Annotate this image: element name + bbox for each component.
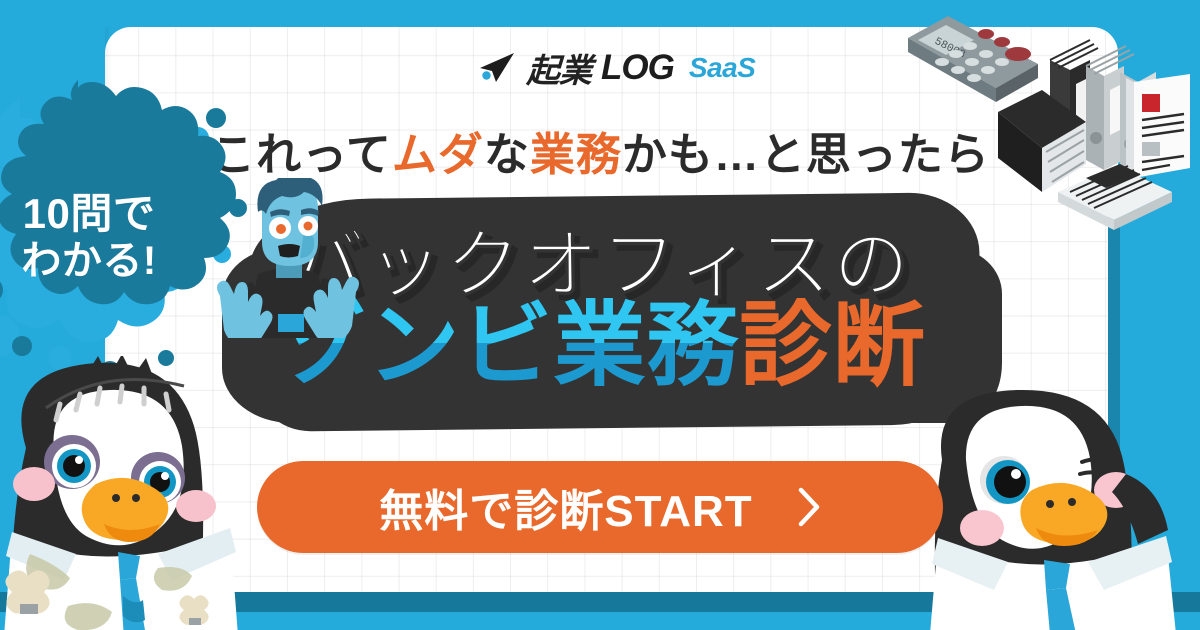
cta-label: 無料で診断START (379, 475, 752, 539)
paper-plane-icon (478, 52, 518, 84)
logo-kigyo: 起業 (526, 44, 594, 92)
bone-icon (5, 570, 49, 614)
headline-highlight-gyomu: 業務 (530, 129, 622, 180)
document-page-icon (1126, 74, 1190, 178)
chevron-right-icon (797, 487, 821, 527)
brand-logo[interactable]: 起業 LOG SaaS (478, 44, 755, 92)
headline-highlight-muda: ムダ (392, 129, 484, 180)
start-diagnosis-button[interactable]: 無料で診断START (257, 461, 943, 553)
zombie-man-icon (206, 178, 376, 338)
headline-part2: な (484, 129, 530, 180)
zombie-penguin (0, 356, 298, 630)
logo-saas: SaaS (689, 52, 756, 84)
poster-canvas: 起業 LOG SaaS これってムダな業務かも…と思ったら バックオフィスの ゾ… (0, 0, 1200, 630)
office-objects: 58008 (890, 6, 1200, 238)
calculator-icon: 58008 (908, 16, 1038, 102)
title-shindan: 診断 (740, 295, 926, 397)
logo-log: LOG (601, 48, 674, 88)
healthy-penguin (920, 388, 1200, 630)
